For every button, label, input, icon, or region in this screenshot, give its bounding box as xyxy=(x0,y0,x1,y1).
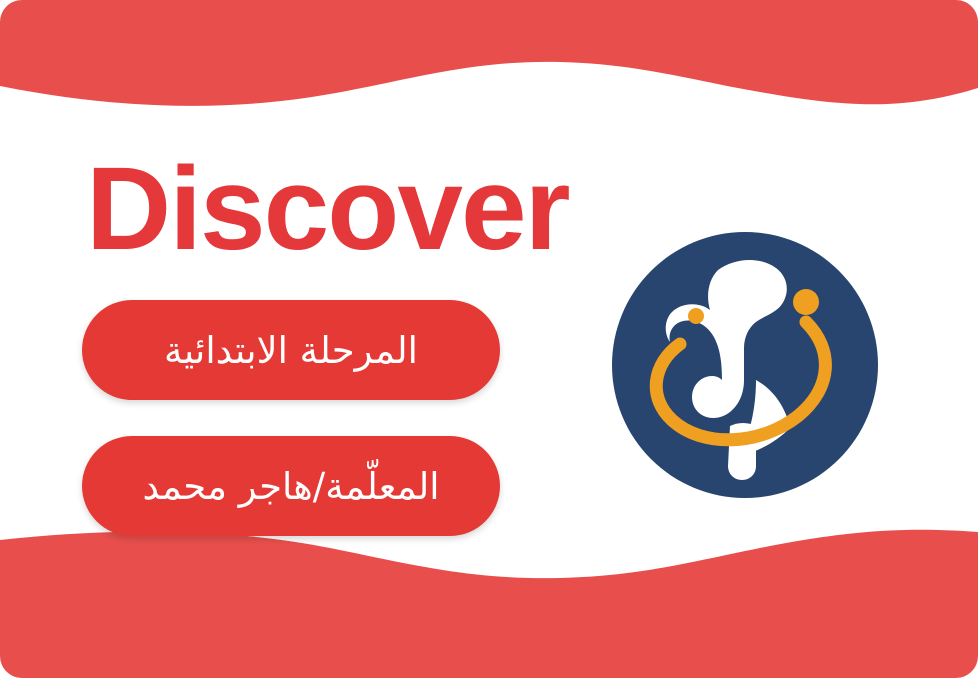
page-title: Discover xyxy=(82,150,512,268)
stage-pill-button[interactable]: المرحلة الابتدائية xyxy=(82,300,500,400)
logo-accent-dot xyxy=(793,289,819,315)
wave-top-shape xyxy=(0,0,978,106)
wave-bottom-shape xyxy=(0,530,978,678)
school-logo-icon xyxy=(610,230,880,500)
teacher-pill-button[interactable]: المعلّمة/هاجر محمد xyxy=(82,436,500,536)
logo-small-dot xyxy=(688,308,704,324)
content-column: Discover المرحلة الابتدائية المعلّمة/هاج… xyxy=(82,150,512,536)
slide-card: Discover المرحلة الابتدائية المعلّمة/هاج… xyxy=(0,0,978,678)
